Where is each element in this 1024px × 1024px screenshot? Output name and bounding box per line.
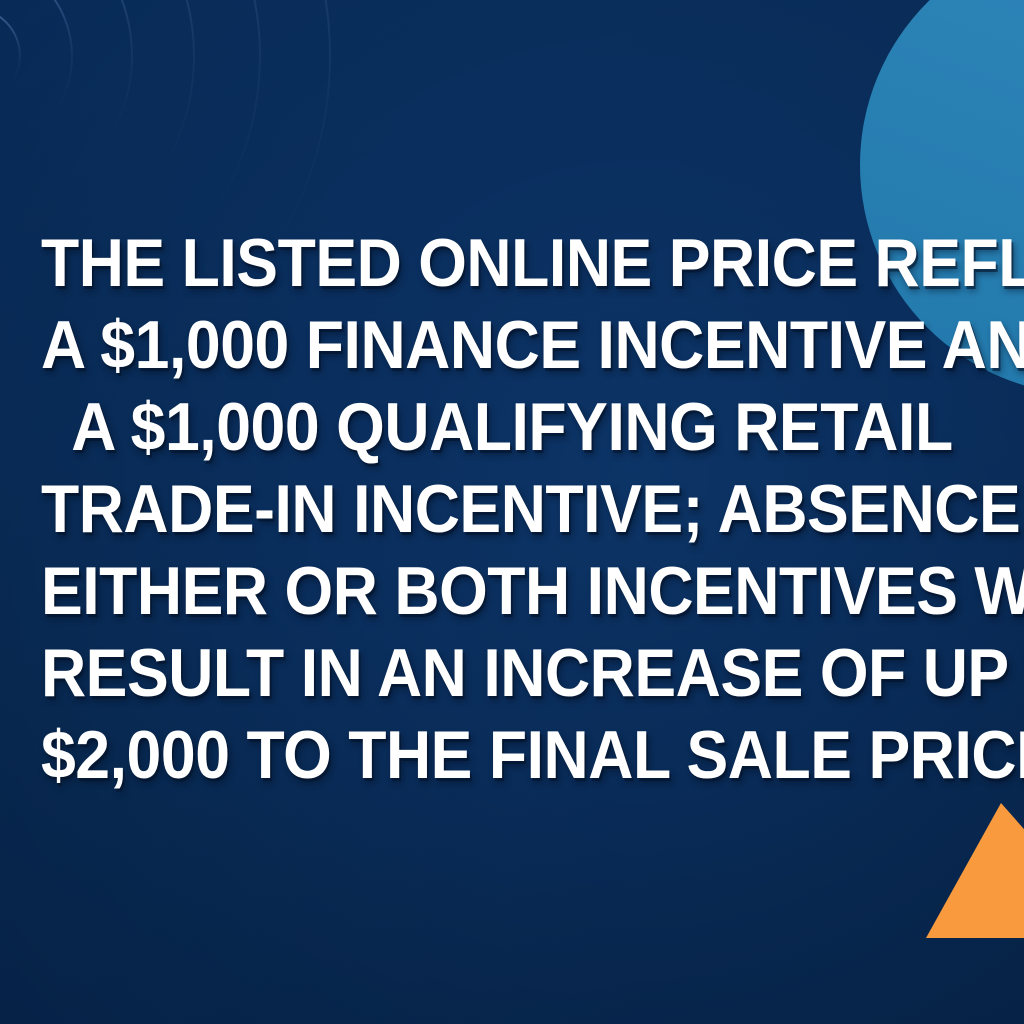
disclaimer-line-5: EITHER OR BOTH INCENTIVES WILL: [41, 550, 983, 632]
disclaimer-line-3: A $1,000 QUALIFYING RETAIL: [41, 386, 983, 468]
disclaimer-line-1: THE LISTED ONLINE PRICE REFLECTS: [41, 222, 983, 304]
disclaimer-headline: THE LISTED ONLINE PRICE REFLECTS A $1,00…: [41, 222, 983, 796]
disclaimer-line-4: TRADE-IN INCENTIVE; ABSENCE OF: [41, 468, 983, 550]
disclaimer-line-6: RESULT IN AN INCREASE OF UP TO: [41, 632, 983, 714]
promo-disclaimer-canvas: THE LISTED ONLINE PRICE REFLECTS A $1,00…: [0, 0, 1024, 1024]
orange-triangle-decoration: [920, 800, 1024, 940]
disclaimer-line-7: $2,000 TO THE FINAL SALE PRICE.: [41, 714, 983, 796]
disclaimer-line-2: A $1,000 FINANCE INCENTIVE AND: [41, 304, 983, 386]
